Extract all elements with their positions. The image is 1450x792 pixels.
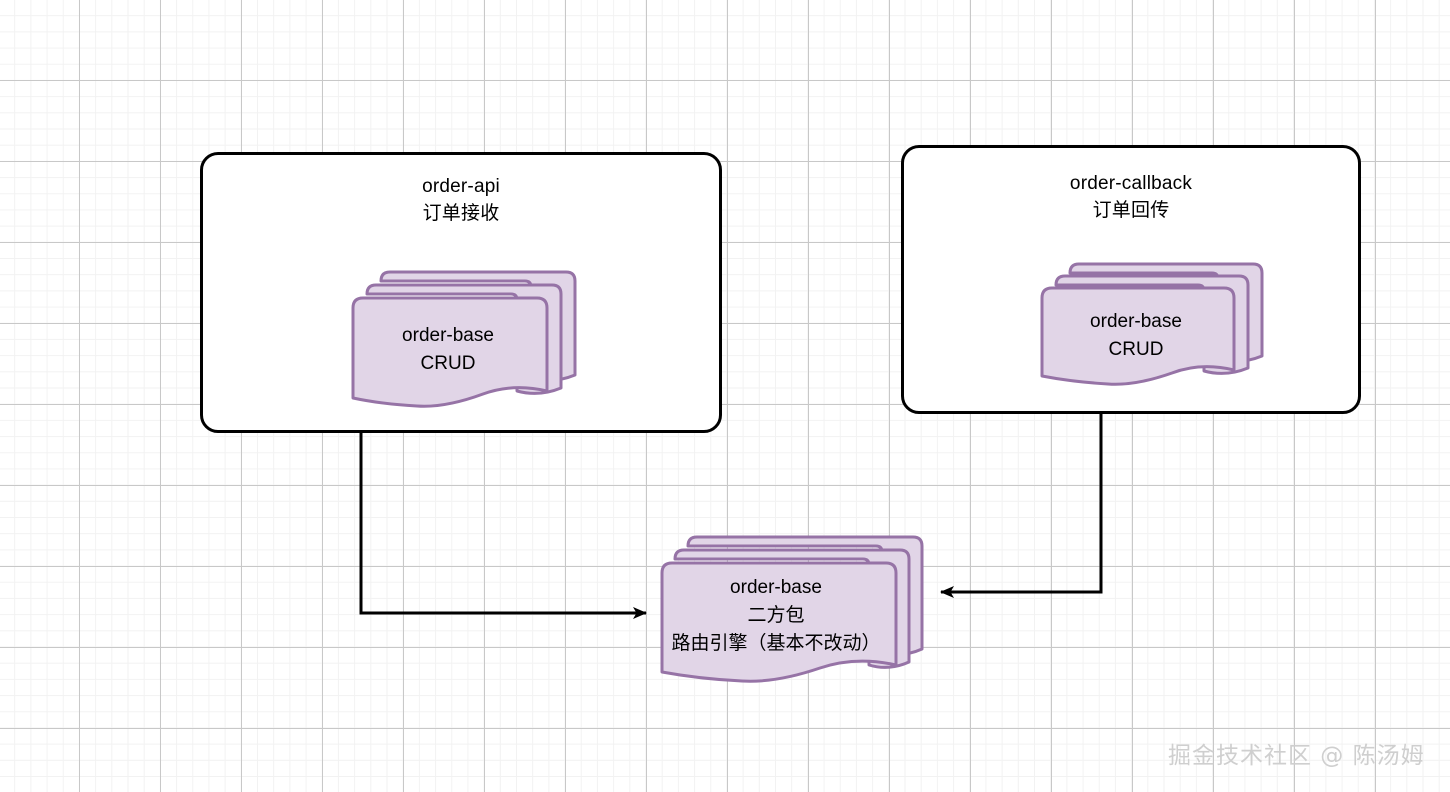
node-order-callback[interactable]: order-callback 订单回传 order-base CRUD (901, 145, 1361, 414)
diagram-canvas: order-api 订单接收 order-base CRUD order-cal… (0, 0, 1450, 792)
watermark: 掘金技术社区 @ 陈汤姆 (1168, 736, 1425, 770)
order-api-title: order-api 订单接收 (203, 173, 719, 227)
node-order-api[interactable]: order-api 订单接收 order-base CRUD (200, 152, 722, 433)
edge-order-callback-to-order-base (941, 414, 1101, 592)
order-callback-title: order-callback 订单回传 (904, 170, 1358, 224)
doc-stack-order-base-crud[interactable]: order-base CRUD (351, 267, 581, 415)
doc-stack-order-base-crud-callback[interactable]: order-base CRUD (1040, 260, 1268, 390)
doc-stack-icon (1040, 260, 1268, 390)
edge-order-api-to-order-base (361, 433, 646, 613)
doc-stack-icon (660, 533, 928, 689)
doc-stack-icon (351, 267, 581, 415)
node-order-base-package[interactable]: order-base 二方包 路由引擎（基本不改动） (660, 533, 928, 689)
